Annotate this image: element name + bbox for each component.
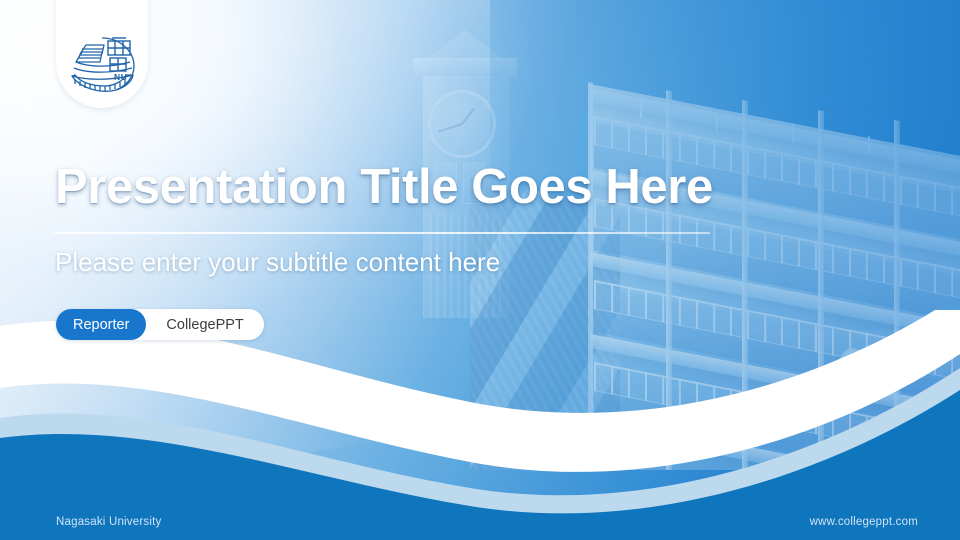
logo-initials: NU — [114, 72, 127, 82]
building-post — [716, 112, 718, 130]
presentation-slide: NU Presentation Title Goes Here Please e… — [0, 0, 960, 540]
nagasaki-university-logo: NU — [66, 32, 138, 98]
wave-decoration — [0, 310, 960, 540]
footer-institution: Nagasaki University — [56, 516, 161, 528]
tower-roof — [425, 30, 505, 60]
building-post — [868, 136, 870, 154]
logo-container: NU — [56, 0, 148, 108]
page-subtitle: Please enter your subtitle content here — [55, 247, 500, 278]
footer-website[interactable]: www.collegeppt.com — [810, 516, 918, 528]
title-divider — [55, 232, 710, 234]
reporter-value[interactable]: CollegePPT — [146, 309, 263, 340]
building-post — [640, 100, 642, 118]
reporter-label: Reporter — [56, 309, 146, 340]
page-title: Presentation Title Goes Here — [55, 159, 713, 215]
reporter-pill[interactable]: Reporter CollegePPT — [56, 309, 264, 340]
building-post — [792, 124, 794, 142]
